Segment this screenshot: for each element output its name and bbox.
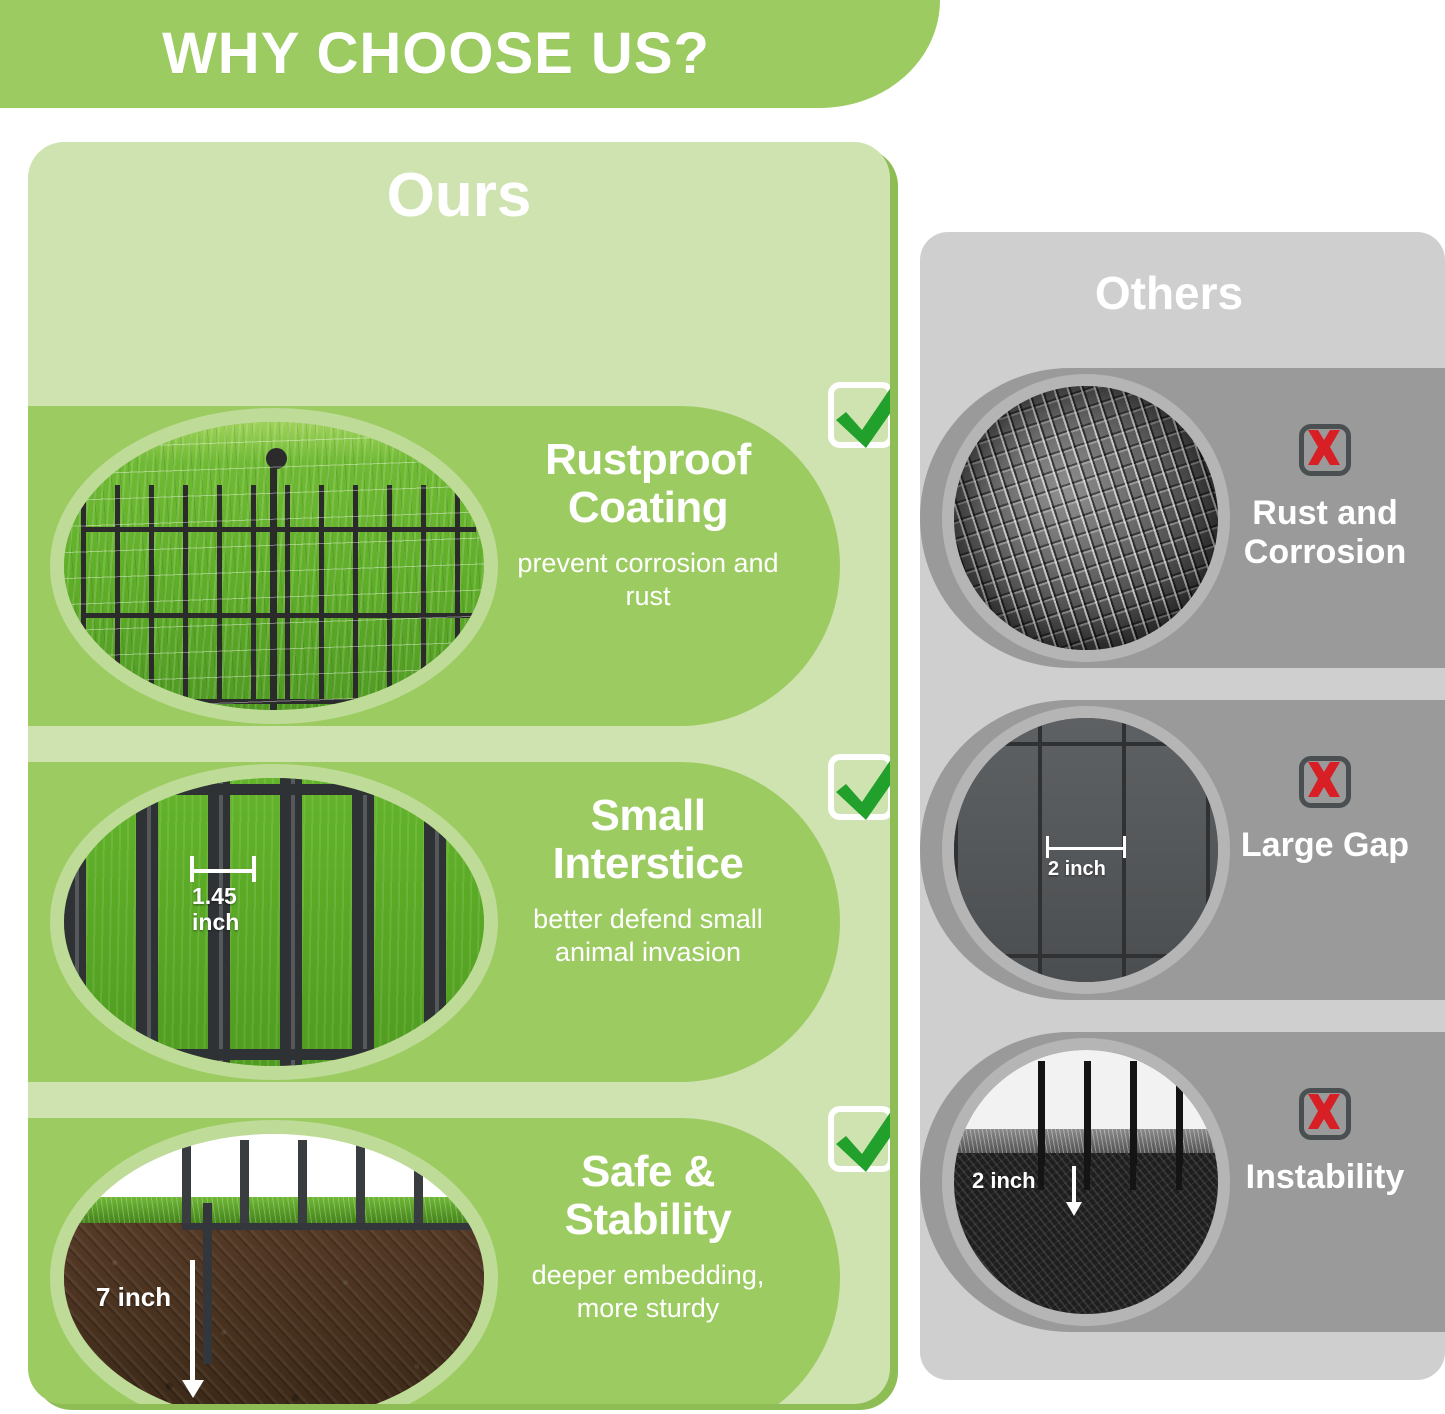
others-image-instability: 2 inch [954,1050,1218,1314]
ours-image-small-interstice: 1.45 inch [64,778,484,1066]
dimension-bracket-interstice [190,856,256,882]
bracket-cap-right [252,856,256,882]
fence-vertical-bars [64,778,484,1066]
ours-panel: Ours Rustproof Coating prevent corrosion… [28,142,890,1404]
others-text-large-gap: Large Gap [1220,756,1430,865]
ours-text-rustproof-coating: Rustproof Coating prevent corrosion and … [498,436,798,613]
fence-bottom-rail [64,1049,484,1060]
bracket-cap-right [1123,836,1126,858]
ours-feature-row-rustproof-coating: Rustproof Coating prevent corrosion and … [28,406,840,726]
dimension-label-line2: inch [192,910,239,936]
check-icon-small-interstice [828,754,890,820]
header-banner: WHY CHOOSE US? [0,0,940,108]
ours-feature-title: Rustproof Coating [498,436,798,531]
check-mark-icon [820,1084,890,1180]
ours-text-small-interstice: Small Interstice better defend small ani… [498,792,798,969]
infographic-root: WHY CHOOSE US? Ours Rustproof Coating pr… [0,0,1445,1414]
fence-in-rain-photo [64,422,484,710]
ours-feature-title: Small Interstice [498,792,798,887]
ours-feature-title: Safe & Stability [498,1148,798,1243]
soil-scene: 7 inch [64,1134,484,1404]
dimension-label-depth: 2 inch [972,1168,1036,1194]
ours-heading: Ours [28,162,890,230]
bracket-cap-left [1046,836,1049,858]
ours-feature-subtitle: better defend small animal invasion [498,903,798,969]
ours-feature-row-safe-stability: 7 inch Safe & Stability deeper embedding… [28,1118,840,1404]
others-feature-label: Rust and Corrosion [1220,494,1430,572]
others-feature-row-instability: 2 inch Instability [920,1032,1445,1332]
x-icon-rust-and-corrosion [1299,424,1351,476]
fence-vertical-bars [1038,1061,1202,1167]
check-mark-icon [820,732,890,828]
fence-top-rail [64,784,484,795]
dimension-arrow-depth [1072,1166,1076,1204]
dimension-label-interstice: 1.45 inch [192,884,239,936]
fence-ground-spike [203,1203,212,1364]
shallow-embed-photo: 2 inch [954,1050,1218,1314]
cross-mark-icon [1301,425,1347,471]
others-text-instability: Instability [1220,1088,1430,1197]
cross-mark-icon [1301,1089,1347,1135]
others-feature-row-large-gap: 2 inch Large Gap [920,700,1445,1000]
ours-feature-row-small-interstice: 1.45 inch Small Interstice better defend… [28,762,840,1082]
others-feature-label: Large Gap [1220,826,1430,865]
fence-vertical-bars [182,1140,476,1226]
fence-short-spikes [1038,1153,1202,1190]
dimension-arrow-depth [190,1260,195,1382]
others-feature-row-rust-and-corrosion: Rust and Corrosion [920,368,1445,668]
check-mark-icon [820,360,890,456]
bracket-bar [1046,847,1126,850]
others-feature-label: Instability [1220,1158,1430,1197]
soil-layer [64,1223,484,1404]
others-text-rust-and-corrosion: Rust and Corrosion [1220,424,1430,572]
dimension-bracket-gap [1046,836,1126,858]
fence-closeup-photo: 1.45 inch [64,778,484,1066]
ours-image-safe-stability: 7 inch [64,1134,484,1404]
fence-top-rail [954,742,1218,746]
dimension-label-depth: 7 inch [96,1282,171,1313]
wire-mesh-roll-photo [954,386,1218,650]
check-icon-safe-stability [828,1106,890,1172]
ours-text-safe-stability: Safe & Stability deeper embedding, more … [498,1148,798,1325]
others-image-large-gap: 2 inch [954,718,1218,982]
rain-overlay [64,422,484,710]
x-icon-large-gap [1299,756,1351,808]
page-title: WHY CHOOSE US? [162,25,710,83]
soil-cross-section-photo: 7 inch [64,1134,484,1404]
fence-bottom-rail [954,954,1218,958]
instability-scene: 2 inch [954,1050,1218,1314]
fence-bottom-rail [182,1223,476,1230]
dimension-label-gap: 2 inch [1048,858,1106,881]
others-image-rust-and-corrosion [954,386,1218,650]
bracket-cap-left [190,856,194,882]
x-icon-instability [1299,1088,1351,1140]
ours-feature-subtitle: prevent corrosion and rust [498,547,798,613]
dimension-label-line1: 1.45 [192,884,239,910]
wire-roll [954,386,1218,650]
wide-gap-fence-photo: 2 inch [954,718,1218,982]
others-panel: Others Rust and Corrosion [920,232,1445,1380]
bracket-bar [190,869,256,873]
check-icon-rustproof-coating [828,382,890,448]
ours-feature-subtitle: deeper embedding, more sturdy [498,1259,798,1325]
ours-image-rustproof-coating [64,422,484,710]
others-heading: Others [920,268,1418,319]
cross-mark-icon [1301,757,1347,803]
